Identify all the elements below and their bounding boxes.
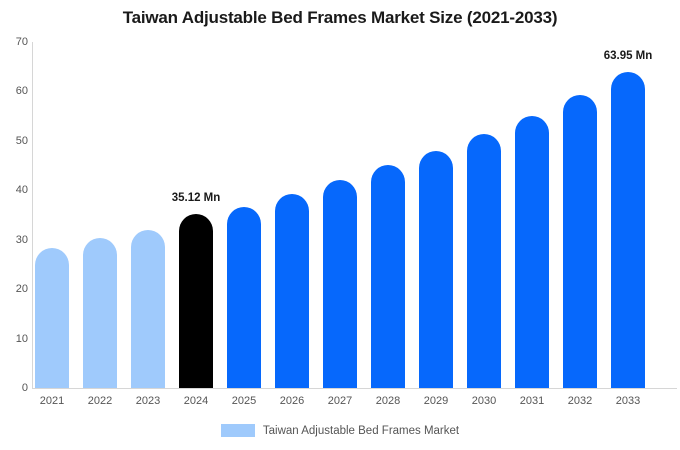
y-axis-tick-label: 40 [2, 184, 28, 196]
x-axis-tick-label: 2025 [220, 395, 268, 407]
bar-2023[interactable] [131, 230, 165, 388]
y-axis-tick-label: 50 [2, 135, 28, 147]
bar-2028[interactable] [371, 165, 405, 388]
value-label-2033: 63.95 Mn [593, 50, 663, 62]
bar-2022[interactable] [83, 238, 117, 388]
value-label-2024: 35.12 Mn [161, 192, 231, 204]
x-axis-tick-label: 2027 [316, 395, 364, 407]
bar-2026[interactable] [275, 194, 309, 388]
bar-2030[interactable] [467, 134, 501, 388]
chart-legend: Taiwan Adjustable Bed Frames Market [0, 424, 680, 437]
y-axis-tick-label: 20 [2, 283, 28, 295]
x-axis-tick-label: 2033 [604, 395, 652, 407]
x-axis-tick-label: 2023 [124, 395, 172, 407]
x-axis-tick-label: 2028 [364, 395, 412, 407]
bar-2021[interactable] [35, 248, 69, 388]
bar-chart: Taiwan Adjustable Bed Frames Market Size… [0, 0, 680, 450]
legend-swatch-taiwan-adjustable-bed-frames-market [221, 424, 255, 437]
x-axis-tick-label: 2030 [460, 395, 508, 407]
y-axis-tick-label: 60 [2, 85, 28, 97]
y-axis-tick-labels: 010203040506070 [0, 0, 28, 450]
y-axis-tick-label: 10 [2, 333, 28, 345]
y-axis-tick-label: 0 [2, 382, 28, 394]
bar-2033[interactable] [611, 72, 645, 388]
plot-area [32, 42, 672, 388]
bar-2024[interactable] [179, 214, 213, 388]
x-axis-tick-label: 2022 [76, 395, 124, 407]
x-axis-tick-label: 2032 [556, 395, 604, 407]
bar-2027[interactable] [323, 180, 357, 388]
y-axis-tick-label: 30 [2, 234, 28, 246]
bar-2031[interactable] [515, 116, 549, 388]
bar-2032[interactable] [563, 95, 597, 388]
x-axis-tick-label: 2026 [268, 395, 316, 407]
y-axis-tick-label: 70 [2, 36, 28, 48]
x-axis-tick-label: 2031 [508, 395, 556, 407]
x-axis-line [32, 388, 677, 389]
bar-2029[interactable] [419, 151, 453, 388]
x-axis-tick-label: 2029 [412, 395, 460, 407]
chart-title: Taiwan Adjustable Bed Frames Market Size… [0, 8, 680, 28]
legend-label-taiwan-adjustable-bed-frames-market: Taiwan Adjustable Bed Frames Market [263, 425, 459, 437]
bar-2025[interactable] [227, 207, 261, 388]
x-axis-tick-label: 2021 [28, 395, 76, 407]
x-axis-tick-label: 2024 [172, 395, 220, 407]
